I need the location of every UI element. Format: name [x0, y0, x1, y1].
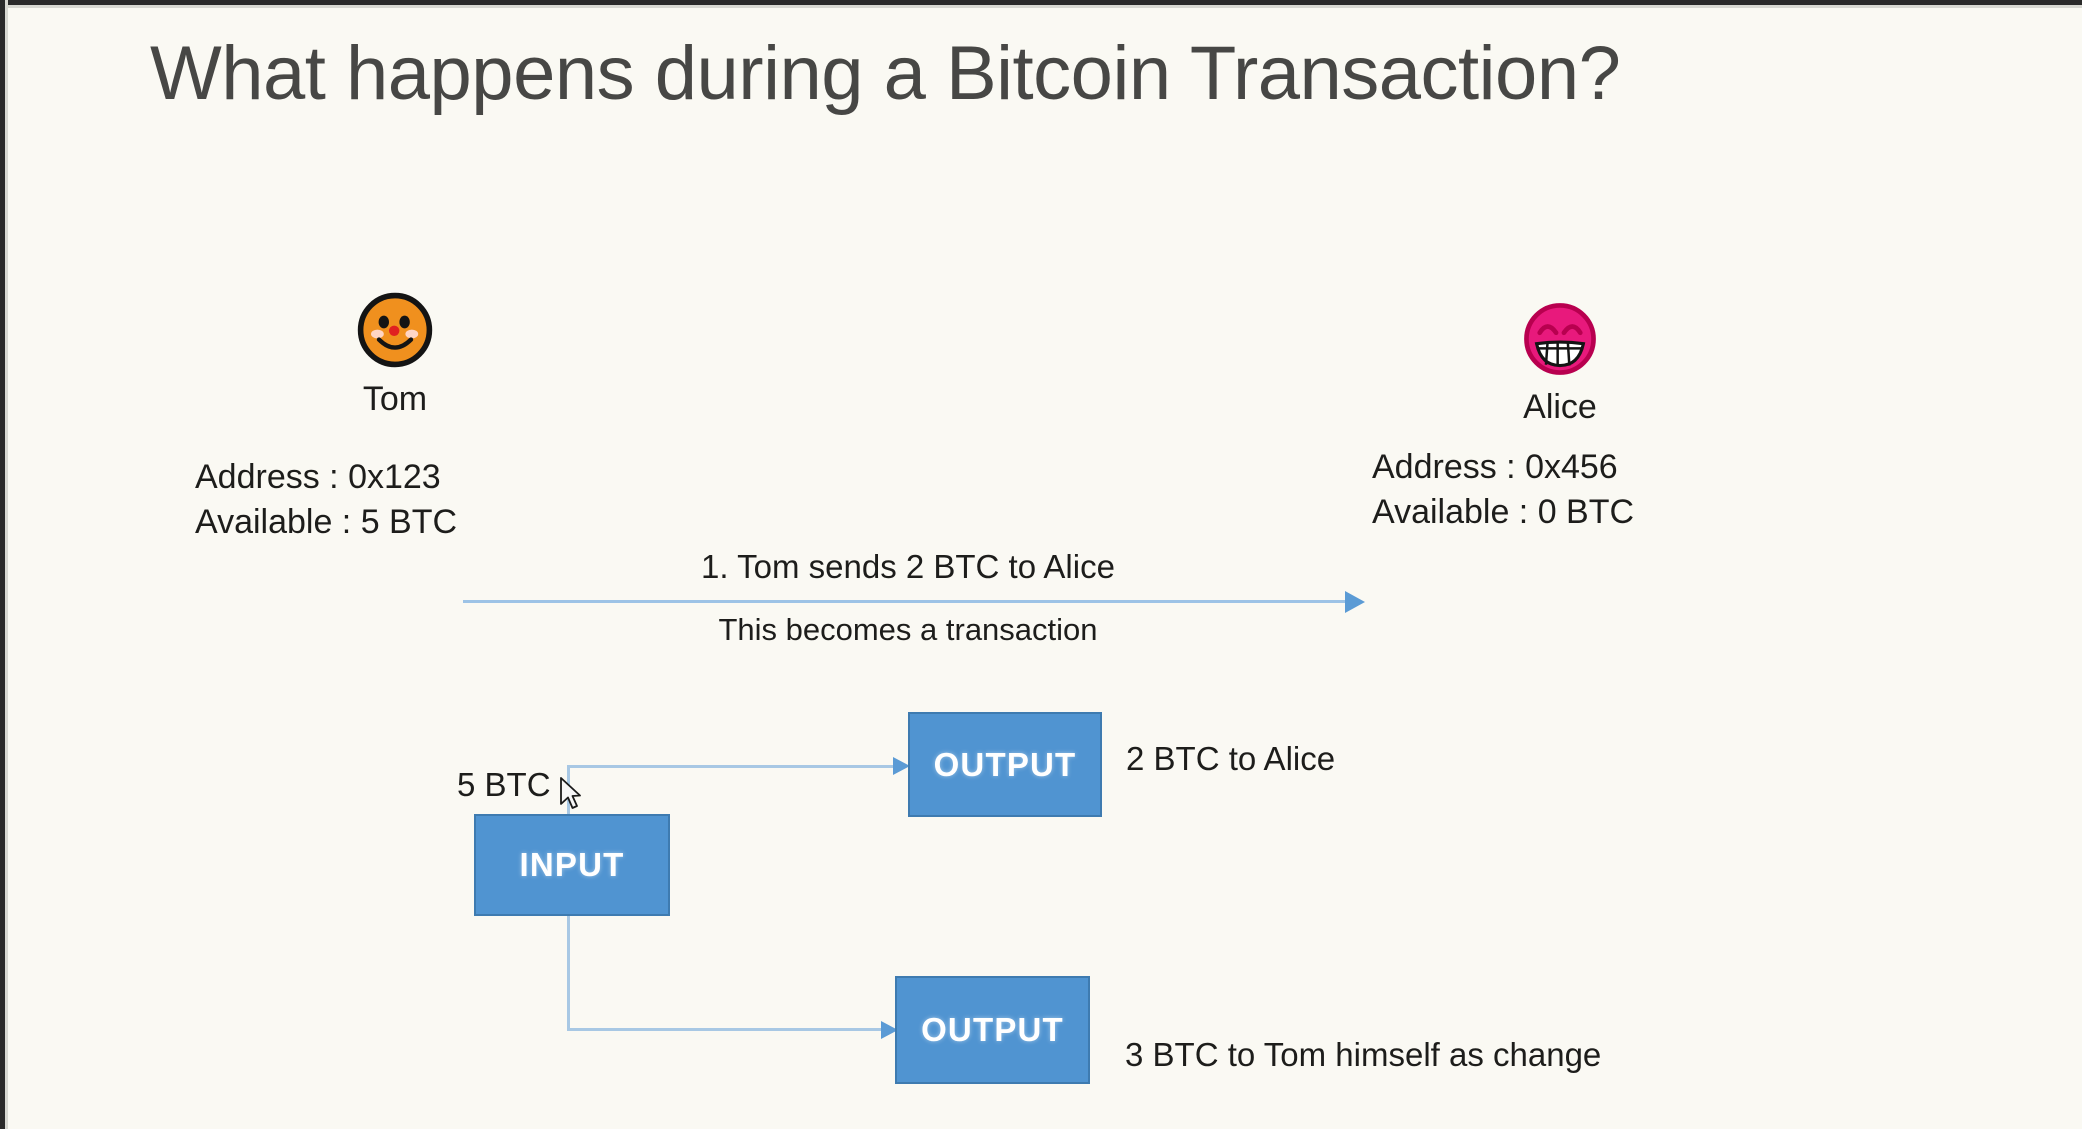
letterbox-edge-left-inner — [5, 0, 8, 1129]
tom-avatar-icon — [300, 290, 490, 375]
input-box[interactable]: INPUT — [474, 814, 670, 916]
alice-name-label: Alice — [1465, 389, 1655, 426]
connector-input-to-output-2-vertical — [567, 914, 570, 1031]
transaction-arrow-head-icon — [1345, 591, 1365, 613]
connector-input-to-output-1-vertical — [567, 765, 570, 816]
person-tom: Tom — [300, 290, 490, 418]
alice-address-line: Address : 0x456 — [1372, 445, 1634, 490]
slide-canvas: What happens during a Bitcoin Transactio… — [0, 0, 2082, 1129]
output-1-description: 2 BTC to Alice — [1126, 740, 1335, 778]
page-title: What happens during a Bitcoin Transactio… — [150, 32, 1950, 116]
transaction-arrow-line — [463, 600, 1353, 603]
transaction-arrow-label-below: This becomes a transaction — [463, 612, 1353, 648]
tom-address-line: Address : 0x123 — [195, 455, 457, 500]
letterbox-edge-top-inner — [0, 5, 2082, 8]
output-box-2[interactable]: OUTPUT — [895, 976, 1090, 1084]
connector-input-to-output-1-horizontal — [567, 765, 895, 768]
alice-available-line: Available : 0 BTC — [1372, 490, 1634, 535]
tom-name-label: Tom — [300, 381, 490, 418]
output-box-1[interactable]: OUTPUT — [908, 712, 1102, 817]
alice-avatar-icon — [1465, 300, 1655, 383]
person-alice: Alice — [1465, 300, 1655, 426]
input-amount-label: 5 BTC — [457, 766, 551, 804]
transaction-arrow-label-above: 1. Tom sends 2 BTC to Alice — [463, 548, 1353, 586]
tom-info: Address : 0x123 Available : 5 BTC — [195, 455, 457, 545]
alice-info: Address : 0x456 Available : 0 BTC — [1372, 445, 1634, 535]
connector-input-to-output-2-horizontal — [567, 1028, 883, 1031]
tom-available-line: Available : 5 BTC — [195, 500, 457, 545]
output-2-description: 3 BTC to Tom himself as change — [1125, 1036, 1601, 1074]
mouse-pointer-icon — [558, 776, 584, 814]
